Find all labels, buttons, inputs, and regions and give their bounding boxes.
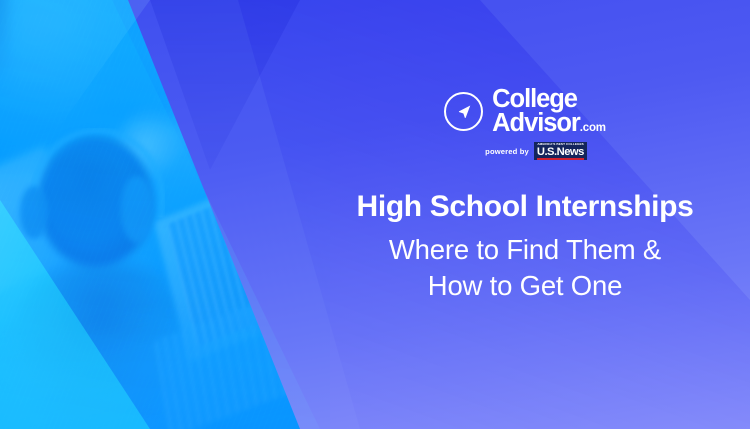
powered-by-label: powered by [485,147,529,156]
photo-duotone-tint-screen [0,0,330,429]
hero-banner: College Advisor.com powered by AMERICA'S… [0,0,750,429]
powered-by-usnews: powered by AMERICA'S BEST COLLEGES U.S.N… [485,142,587,159]
page-subtitle: Where to Find Them & How to Get One [389,232,661,302]
collegeadvisor-wordmark: College Advisor.com [492,88,606,135]
hero-content: College Advisor.com powered by AMERICA'S… [300,0,750,429]
logo-line-2-text: Advisor [492,109,580,137]
usnews-red-rule [537,158,584,160]
usnews-badge: AMERICA'S BEST COLLEGES U.S.News [534,142,587,159]
page-subtitle-line-1: Where to Find Them & [389,232,661,267]
photo-duotone-image [0,0,330,429]
navigation-arrow-icon [444,92,483,131]
logo-line-2: Advisor.com [492,112,606,136]
collegeadvisor-logo[interactable]: College Advisor.com [444,88,606,135]
hero-photo [0,0,330,429]
page-subtitle-line-2: How to Get One [389,268,661,303]
usnews-name: U.S.News [537,147,584,158]
page-title: High School Internships [357,190,694,224]
logo-dotcom: .com [580,122,606,134]
